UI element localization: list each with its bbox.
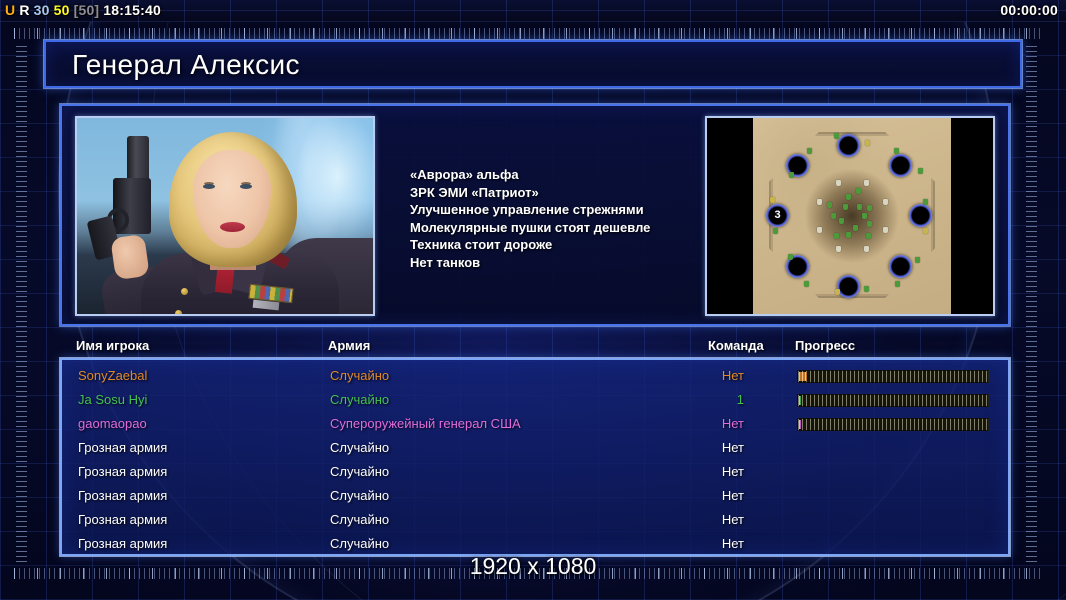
column-header-team: Команда bbox=[708, 338, 764, 353]
player-team[interactable]: Нет bbox=[674, 488, 744, 503]
map-supply-pile bbox=[867, 221, 872, 227]
map-supply-pile bbox=[918, 168, 923, 174]
map-tech-marker bbox=[836, 180, 841, 186]
table-row[interactable]: Грозная армияСлучайноНет bbox=[62, 532, 1008, 556]
map-supply-pile bbox=[857, 204, 862, 210]
session-time: 18:15:40 bbox=[103, 2, 161, 18]
player-name: Грозная армия bbox=[78, 440, 167, 455]
player-team[interactable]: Нет bbox=[674, 440, 744, 455]
map-supply-pile bbox=[864, 286, 869, 292]
player-name: gaomaopao bbox=[78, 416, 147, 431]
map-supply-pile bbox=[807, 148, 812, 154]
map-tech-marker bbox=[817, 199, 822, 205]
ruler-top bbox=[14, 28, 1044, 39]
table-row[interactable]: Грозная армияСлучайноНет bbox=[62, 484, 1008, 508]
general-portrait-image bbox=[77, 118, 373, 314]
map-supply-pile bbox=[834, 133, 839, 139]
map-start-position[interactable] bbox=[837, 134, 860, 157]
ur-u-label: U bbox=[5, 2, 15, 18]
map-supply-pile bbox=[834, 233, 839, 239]
map-supply-pile bbox=[804, 281, 809, 287]
map-start-position[interactable] bbox=[889, 154, 912, 177]
map-supply-pile bbox=[827, 202, 832, 208]
player-army[interactable]: Случайно bbox=[330, 512, 389, 527]
progress-track bbox=[797, 418, 989, 431]
map-supply-pile bbox=[835, 289, 840, 295]
player-name: SonyZaebal bbox=[78, 368, 147, 383]
fps-value: 30 bbox=[34, 2, 50, 18]
progress-fill bbox=[799, 372, 807, 381]
progress-track bbox=[797, 394, 989, 407]
player-army[interactable]: Случайно bbox=[330, 464, 389, 479]
player-army[interactable]: Супероружейный генерал США bbox=[330, 416, 521, 431]
bio-line: Молекулярные пушки стоят дешевле bbox=[410, 219, 730, 237]
max-value: [50] bbox=[74, 2, 100, 18]
map-supply-pile bbox=[843, 204, 848, 210]
player-name: Ja Sosu Hyi bbox=[78, 392, 147, 407]
player-name: Грозная армия bbox=[78, 464, 167, 479]
map-supply-pile bbox=[773, 228, 778, 234]
portrait-eye-right bbox=[240, 184, 252, 189]
progress-track bbox=[797, 370, 989, 383]
portrait-uniform-button bbox=[181, 288, 188, 295]
map-supply-pile bbox=[862, 213, 867, 219]
general-portrait-frame bbox=[75, 116, 375, 316]
portrait-eye-left bbox=[203, 184, 215, 189]
map-tech-marker bbox=[864, 246, 869, 252]
map-start-position[interactable] bbox=[889, 255, 912, 278]
bio-line: Улучшенное управление стрежнями bbox=[410, 201, 730, 219]
map-supply-pile bbox=[789, 172, 794, 178]
player-army[interactable]: Случайно bbox=[330, 488, 389, 503]
page-title: Генерал Алексис bbox=[72, 49, 300, 81]
map-start-position[interactable] bbox=[909, 204, 932, 227]
current-value: 50 bbox=[54, 2, 70, 18]
column-header-name: Имя игрока bbox=[76, 338, 149, 353]
ruler-bottom bbox=[14, 568, 1044, 579]
table-row[interactable]: gaomaopaoСупероружейный генерал СШАНет bbox=[62, 412, 1008, 436]
player-list-panel: SonyZaebalСлучайноНетJa Sosu HyiСлучайно… bbox=[60, 358, 1010, 556]
map-supply-pile bbox=[846, 194, 851, 200]
map-supply-pile bbox=[846, 232, 851, 238]
general-info-panel: «Аврора» альфа ЗРК ЭМИ «Патриот» Улучшен… bbox=[60, 104, 1010, 326]
column-header-progress: Прогресс bbox=[795, 338, 855, 353]
progress-fill bbox=[799, 420, 801, 429]
map-start-position[interactable]: 3 bbox=[766, 204, 789, 227]
table-row[interactable]: Ja Sosu HyiСлучайно1 bbox=[62, 388, 1008, 412]
player-table-header: Имя игрока Армия Команда Прогресс bbox=[60, 338, 1010, 358]
map-supply-pile bbox=[770, 197, 775, 203]
player-army[interactable]: Случайно bbox=[330, 392, 389, 407]
bio-line: «Аврора» альфа bbox=[410, 166, 730, 184]
map-supply-pile bbox=[853, 225, 858, 231]
table-row[interactable]: Грозная армияСлучайноНет bbox=[62, 460, 1008, 484]
map-supply-pile bbox=[895, 281, 900, 287]
map-tech-marker bbox=[883, 227, 888, 233]
map-preview-image: 3 bbox=[753, 118, 951, 314]
player-army[interactable]: Случайно bbox=[330, 536, 389, 551]
map-tech-marker bbox=[864, 180, 869, 186]
player-name: Грозная армия bbox=[78, 512, 167, 527]
portrait-lips bbox=[220, 222, 245, 232]
map-supply-pile bbox=[831, 213, 836, 219]
progress-fill bbox=[799, 396, 801, 405]
performance-readout: UR3050[50]18:15:40 bbox=[5, 2, 165, 18]
top-status-bar: UR3050[50]18:15:40 00:00:00 bbox=[0, 0, 1066, 22]
ruler-right bbox=[1026, 42, 1037, 562]
bio-line: Техника стоит дороже bbox=[410, 236, 730, 254]
player-team[interactable]: Нет bbox=[674, 536, 744, 551]
player-army[interactable]: Случайно bbox=[330, 440, 389, 455]
map-tech-marker bbox=[883, 199, 888, 205]
player-name: Грозная армия bbox=[78, 488, 167, 503]
player-army[interactable]: Случайно bbox=[330, 368, 389, 383]
map-supply-pile bbox=[894, 148, 899, 154]
player-team[interactable]: Нет bbox=[674, 368, 744, 383]
player-team[interactable]: Нет bbox=[674, 464, 744, 479]
map-start-position-label: 3 bbox=[766, 204, 789, 227]
ur-r-label: R bbox=[19, 2, 29, 18]
map-supply-pile bbox=[923, 199, 928, 205]
bio-line: ЗРК ЭМИ «Патриот» bbox=[410, 184, 730, 202]
map-supply-pile bbox=[915, 257, 920, 263]
player-progress-bar bbox=[797, 418, 989, 431]
map-tech-marker bbox=[817, 227, 822, 233]
game-lobby-screen: UR3050[50]18:15:40 00:00:00 Генерал Алек… bbox=[0, 0, 1066, 600]
map-supply-pile bbox=[867, 205, 872, 211]
player-team[interactable]: Нет bbox=[674, 416, 744, 431]
player-team[interactable]: 1 bbox=[674, 392, 744, 407]
table-row[interactable]: SonyZaebalСлучайноНет bbox=[62, 364, 1008, 388]
map-supply-pile bbox=[865, 140, 870, 146]
bio-line: Нет танков bbox=[410, 254, 730, 272]
map-supply-pile bbox=[788, 254, 793, 260]
match-clock: 00:00:00 bbox=[1000, 2, 1058, 18]
table-row[interactable]: Грозная армияСлучайноНет bbox=[62, 508, 1008, 532]
map-preview-frame[interactable]: 3 bbox=[705, 116, 995, 316]
map-supply-pile bbox=[839, 218, 844, 224]
player-progress-bar bbox=[797, 394, 989, 407]
map-supply-pile bbox=[923, 228, 928, 234]
general-bio-list: «Аврора» альфа ЗРК ЭМИ «Патриот» Улучшен… bbox=[410, 166, 730, 271]
portrait-uniform-button bbox=[175, 310, 182, 316]
ruler-left bbox=[16, 42, 27, 562]
player-name: Грозная армия bbox=[78, 536, 167, 551]
general-title-panel: Генерал Алексис bbox=[44, 40, 1022, 88]
portrait-hand bbox=[110, 234, 150, 280]
map-start-position[interactable] bbox=[837, 275, 860, 298]
table-row[interactable]: Грозная армияСлучайноНет bbox=[62, 436, 1008, 460]
column-header-army: Армия bbox=[328, 338, 370, 353]
player-team[interactable]: Нет bbox=[674, 512, 744, 527]
map-supply-pile bbox=[856, 188, 861, 194]
player-progress-bar bbox=[797, 370, 989, 383]
